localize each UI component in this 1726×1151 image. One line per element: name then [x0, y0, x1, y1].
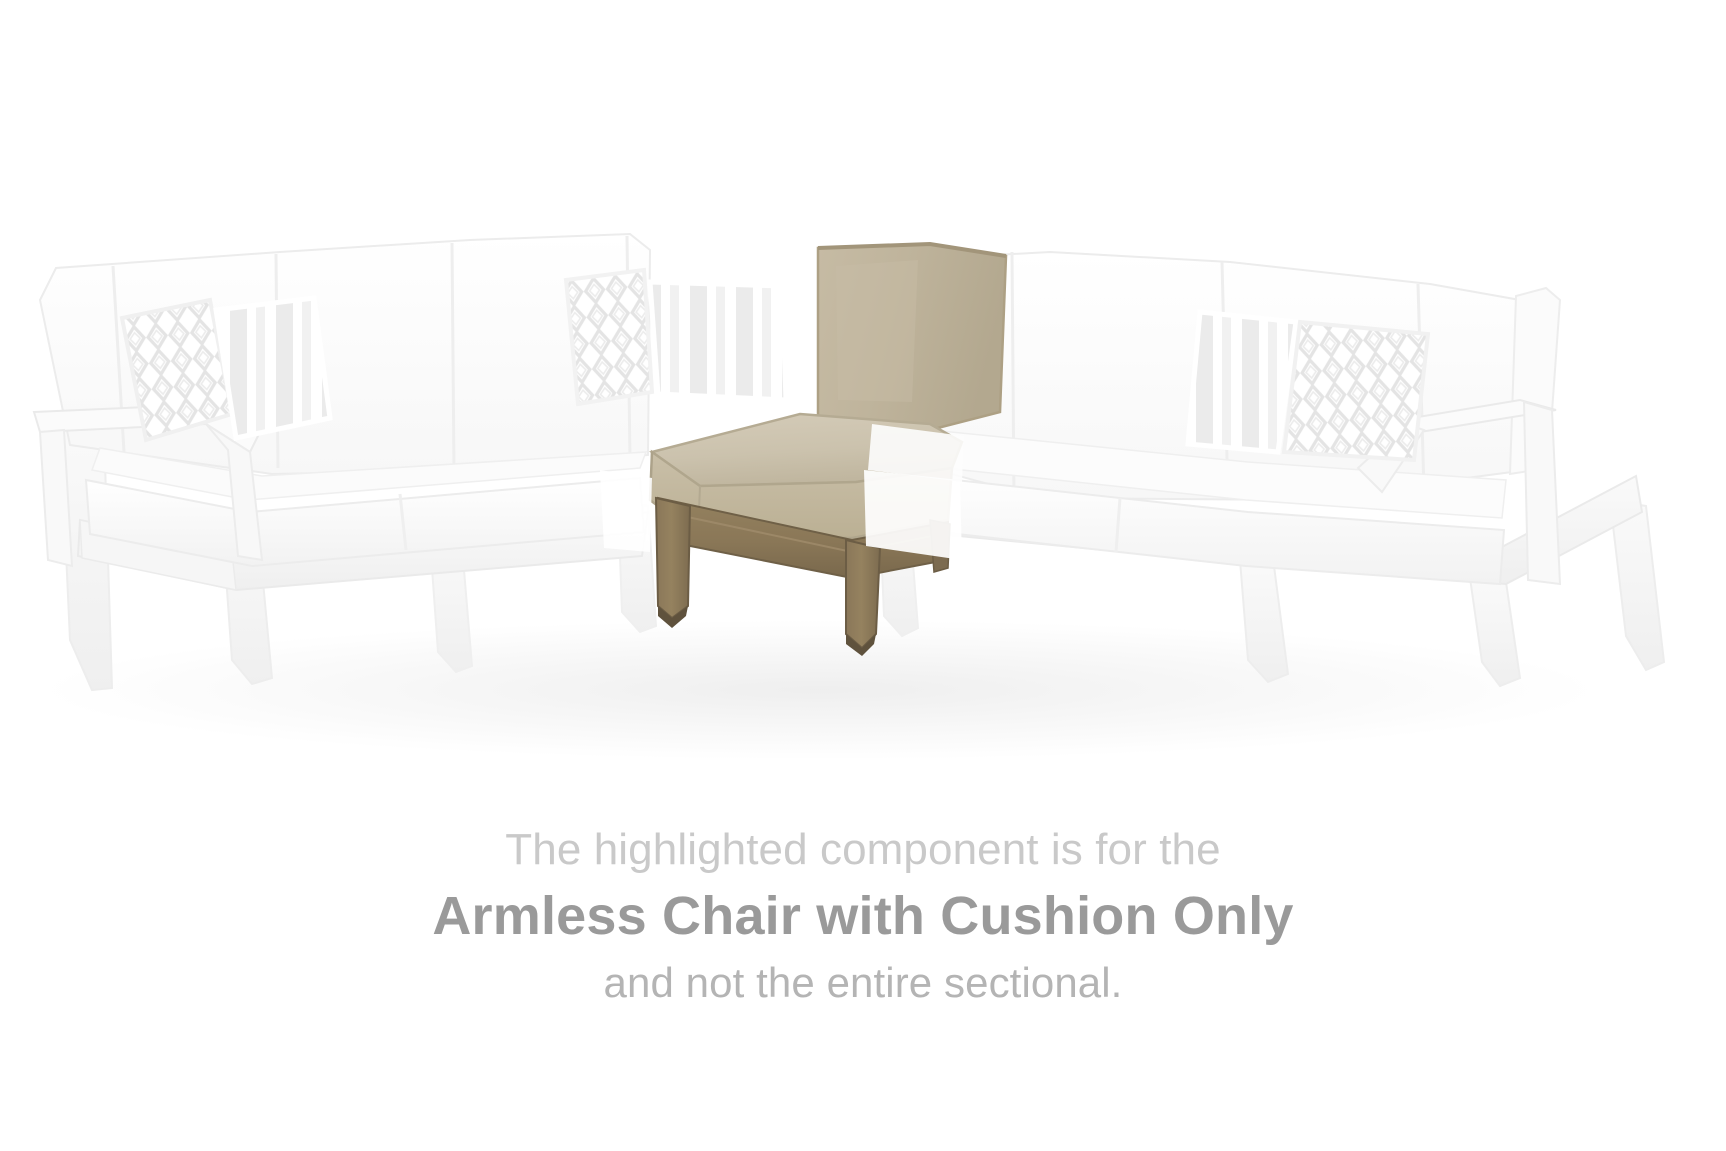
pillow-striped-left-inner	[650, 282, 786, 400]
chair-back-highlight	[836, 260, 918, 402]
chair-leg-front-left	[656, 498, 690, 618]
product-image	[0, 0, 1726, 800]
caption-line-3: and not the entire sectional.	[0, 952, 1726, 1014]
chair-leg-front-right	[846, 540, 880, 648]
pillow-lattice-left-inner	[566, 270, 652, 404]
right-section-front-overlap	[864, 424, 964, 560]
caption-line-1: The highlighted component is for the	[0, 820, 1726, 880]
floor-shadow	[40, 620, 1600, 760]
caption-line-2: Armless Chair with Cushion Only	[0, 880, 1726, 952]
pillow-striped-left	[216, 298, 330, 438]
pillow-lattice-right	[1284, 322, 1428, 460]
disclaimer-caption: The highlighted component is for the Arm…	[0, 820, 1726, 1014]
product-disclaimer-page: The highlighted component is for the Arm…	[0, 0, 1726, 1151]
right-seat-overlap-front	[864, 470, 962, 560]
left-seat-overlap	[600, 470, 652, 552]
pillow-striped-right	[1188, 312, 1296, 452]
sectional-sofa-illustration	[0, 0, 1726, 800]
left-back-seam-3	[452, 243, 454, 470]
left-section-front-overlap	[600, 470, 652, 552]
